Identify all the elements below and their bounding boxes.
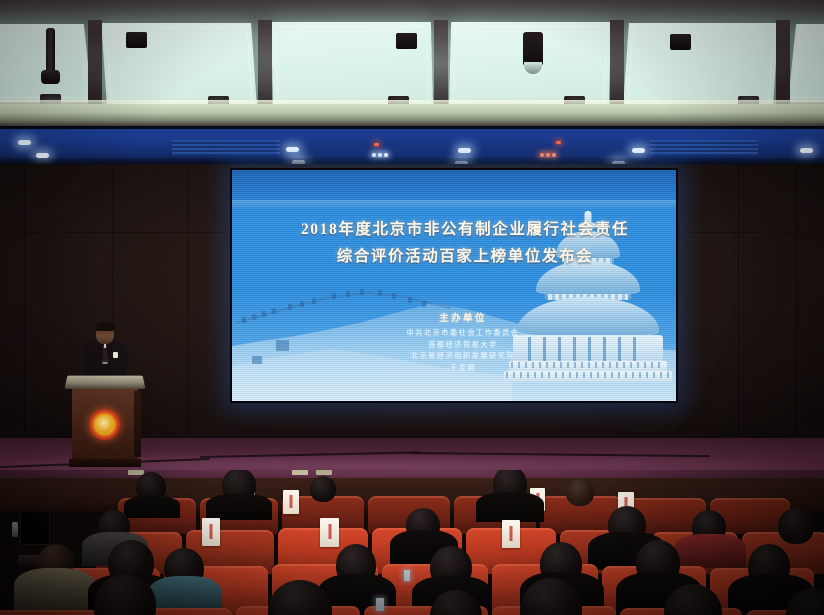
ceiling-trim (0, 104, 824, 126)
ceiling-upper-shadow (0, 0, 824, 24)
host-label: 主办单位 (250, 310, 676, 324)
smartphone-screen (376, 598, 384, 611)
host-organization: 首都经济贸易大学 (250, 340, 676, 352)
soffit-indicator-cluster (540, 153, 556, 157)
host-organization: 中共北京市委社会工作委员会 (250, 328, 676, 340)
air-vent-icon (650, 140, 758, 156)
soffit-red-indicator (556, 141, 561, 144)
audience-head (778, 508, 814, 544)
soffit-red-indicator (374, 143, 379, 146)
soffit-light (632, 148, 645, 153)
conference-hall-photo: 2018年度北京市非公有制企业履行社会责任 综合评价活动百家上榜单位发布会 主办… (0, 0, 824, 615)
spotlight-icon (670, 34, 691, 50)
ceiling-beam (258, 20, 272, 108)
audience-shoulders (476, 492, 544, 522)
presentation-title-line-1: 2018年度北京市非公有制企业履行社会责任 (232, 216, 676, 243)
presentation-title-line-2: 综合评价活动百家上榜单位发布会 (232, 243, 676, 270)
seat-name-card (202, 518, 220, 546)
ceiling-beam (610, 20, 624, 108)
seat-name-card (283, 490, 299, 514)
audience-shoulders (206, 494, 272, 520)
air-vent-icon (172, 140, 280, 156)
audience-shoulders (14, 568, 96, 612)
soffit-light (458, 148, 471, 153)
great-wall-graphic (370, 292, 410, 298)
ceiling-light-panel (101, 23, 257, 105)
podium-emblem-icon (89, 409, 120, 440)
speaker-podium (72, 375, 138, 465)
soffit-light (18, 140, 31, 145)
audience-shoulders (124, 496, 180, 518)
soffit-edge (0, 126, 824, 129)
spotlight-icon (396, 33, 417, 49)
led-presentation-screen: 2018年度北京市非公有制企业履行社会责任 综合评价活动百家上榜单位发布会 主办… (230, 168, 678, 403)
ceiling-beam (776, 20, 790, 108)
speaker-person (83, 323, 127, 381)
soffit-light (800, 148, 813, 153)
audience-seat (0, 610, 108, 615)
spotlight-icon (126, 32, 147, 48)
audience-head (310, 476, 336, 502)
ceiling-light-panel (623, 23, 779, 105)
smartphone-screen (404, 570, 410, 581)
audience-area (0, 470, 824, 615)
audience-shoulders (674, 534, 746, 568)
projector-icon (523, 32, 543, 66)
screen-content: 2018年度北京市非公有制企业履行社会责任 综合评价活动百家上榜单位发布会 主办… (232, 170, 676, 401)
soffit-light (286, 147, 299, 152)
ceiling-beam (434, 20, 448, 108)
soffit-indicator-cluster (372, 153, 388, 157)
water-bottle (12, 522, 18, 537)
host-organization: 千龙网 (250, 363, 676, 375)
seat-name-card (502, 520, 520, 548)
host-organization: 北京新经济组织发展研究院 (250, 351, 676, 363)
audience-head (566, 478, 594, 506)
ceiling-camera-icon (46, 28, 55, 74)
seat-name-card (320, 518, 339, 547)
ceiling-beam (88, 20, 102, 108)
